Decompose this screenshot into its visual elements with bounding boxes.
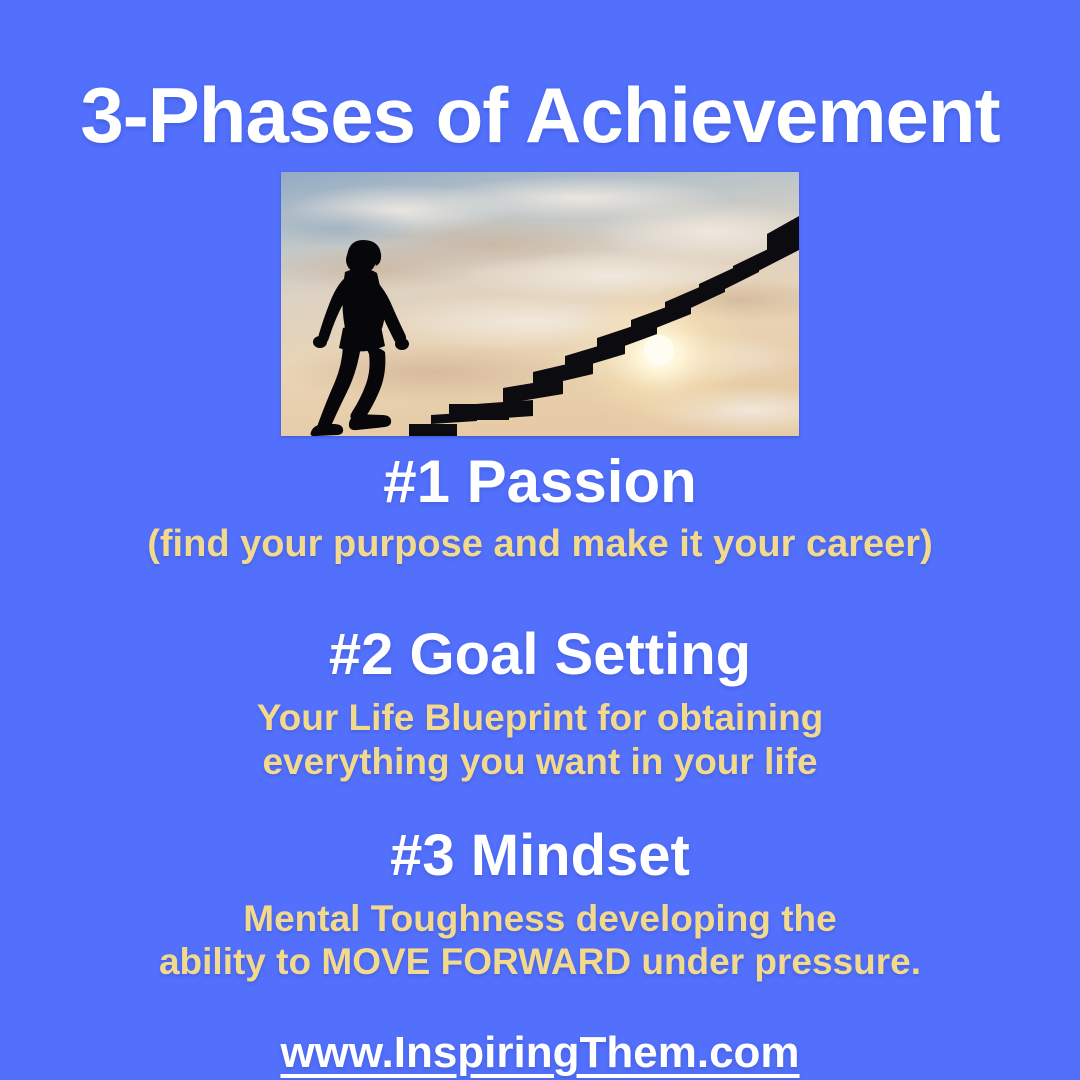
phase-3-line-1: Mental Toughness developing the bbox=[0, 897, 1080, 941]
phase-section-2: #2 Goal Setting Your Life Blueprint for … bbox=[0, 624, 1080, 783]
website-link[interactable]: www.InspiringThem.com bbox=[280, 1028, 799, 1078]
hero-image bbox=[281, 172, 799, 436]
phase-2-line-1: Your Life Blueprint for obtaining bbox=[0, 696, 1080, 740]
phase-2-heading: #2 Goal Setting bbox=[0, 624, 1080, 685]
phase-1-line-1: (find your purpose and make it your care… bbox=[0, 522, 1080, 567]
phase-section-3: #3 Mindset Mental Toughness developing t… bbox=[0, 825, 1080, 984]
phase-1-heading: #1 Passion bbox=[0, 450, 1080, 514]
phase-3-line-2: ability to MOVE FORWARD under pressure. bbox=[0, 940, 1080, 984]
phase-3-description: Mental Toughness developing the ability … bbox=[0, 897, 1080, 984]
poster-canvas: 3-Phases of Achievement bbox=[0, 0, 1080, 1080]
phase-2-line-2: everything you want in your life bbox=[0, 740, 1080, 784]
phase-1-description: (find your purpose and make it your care… bbox=[0, 522, 1080, 567]
page-title: 3-Phases of Achievement bbox=[80, 76, 999, 154]
phase-3-heading: #3 Mindset bbox=[0, 825, 1080, 886]
man-climbing-stairs-silhouette-icon bbox=[281, 172, 799, 436]
phase-2-description: Your Life Blueprint for obtaining everyt… bbox=[0, 696, 1080, 783]
phase-section-1: #1 Passion (find your purpose and make i… bbox=[0, 450, 1080, 566]
